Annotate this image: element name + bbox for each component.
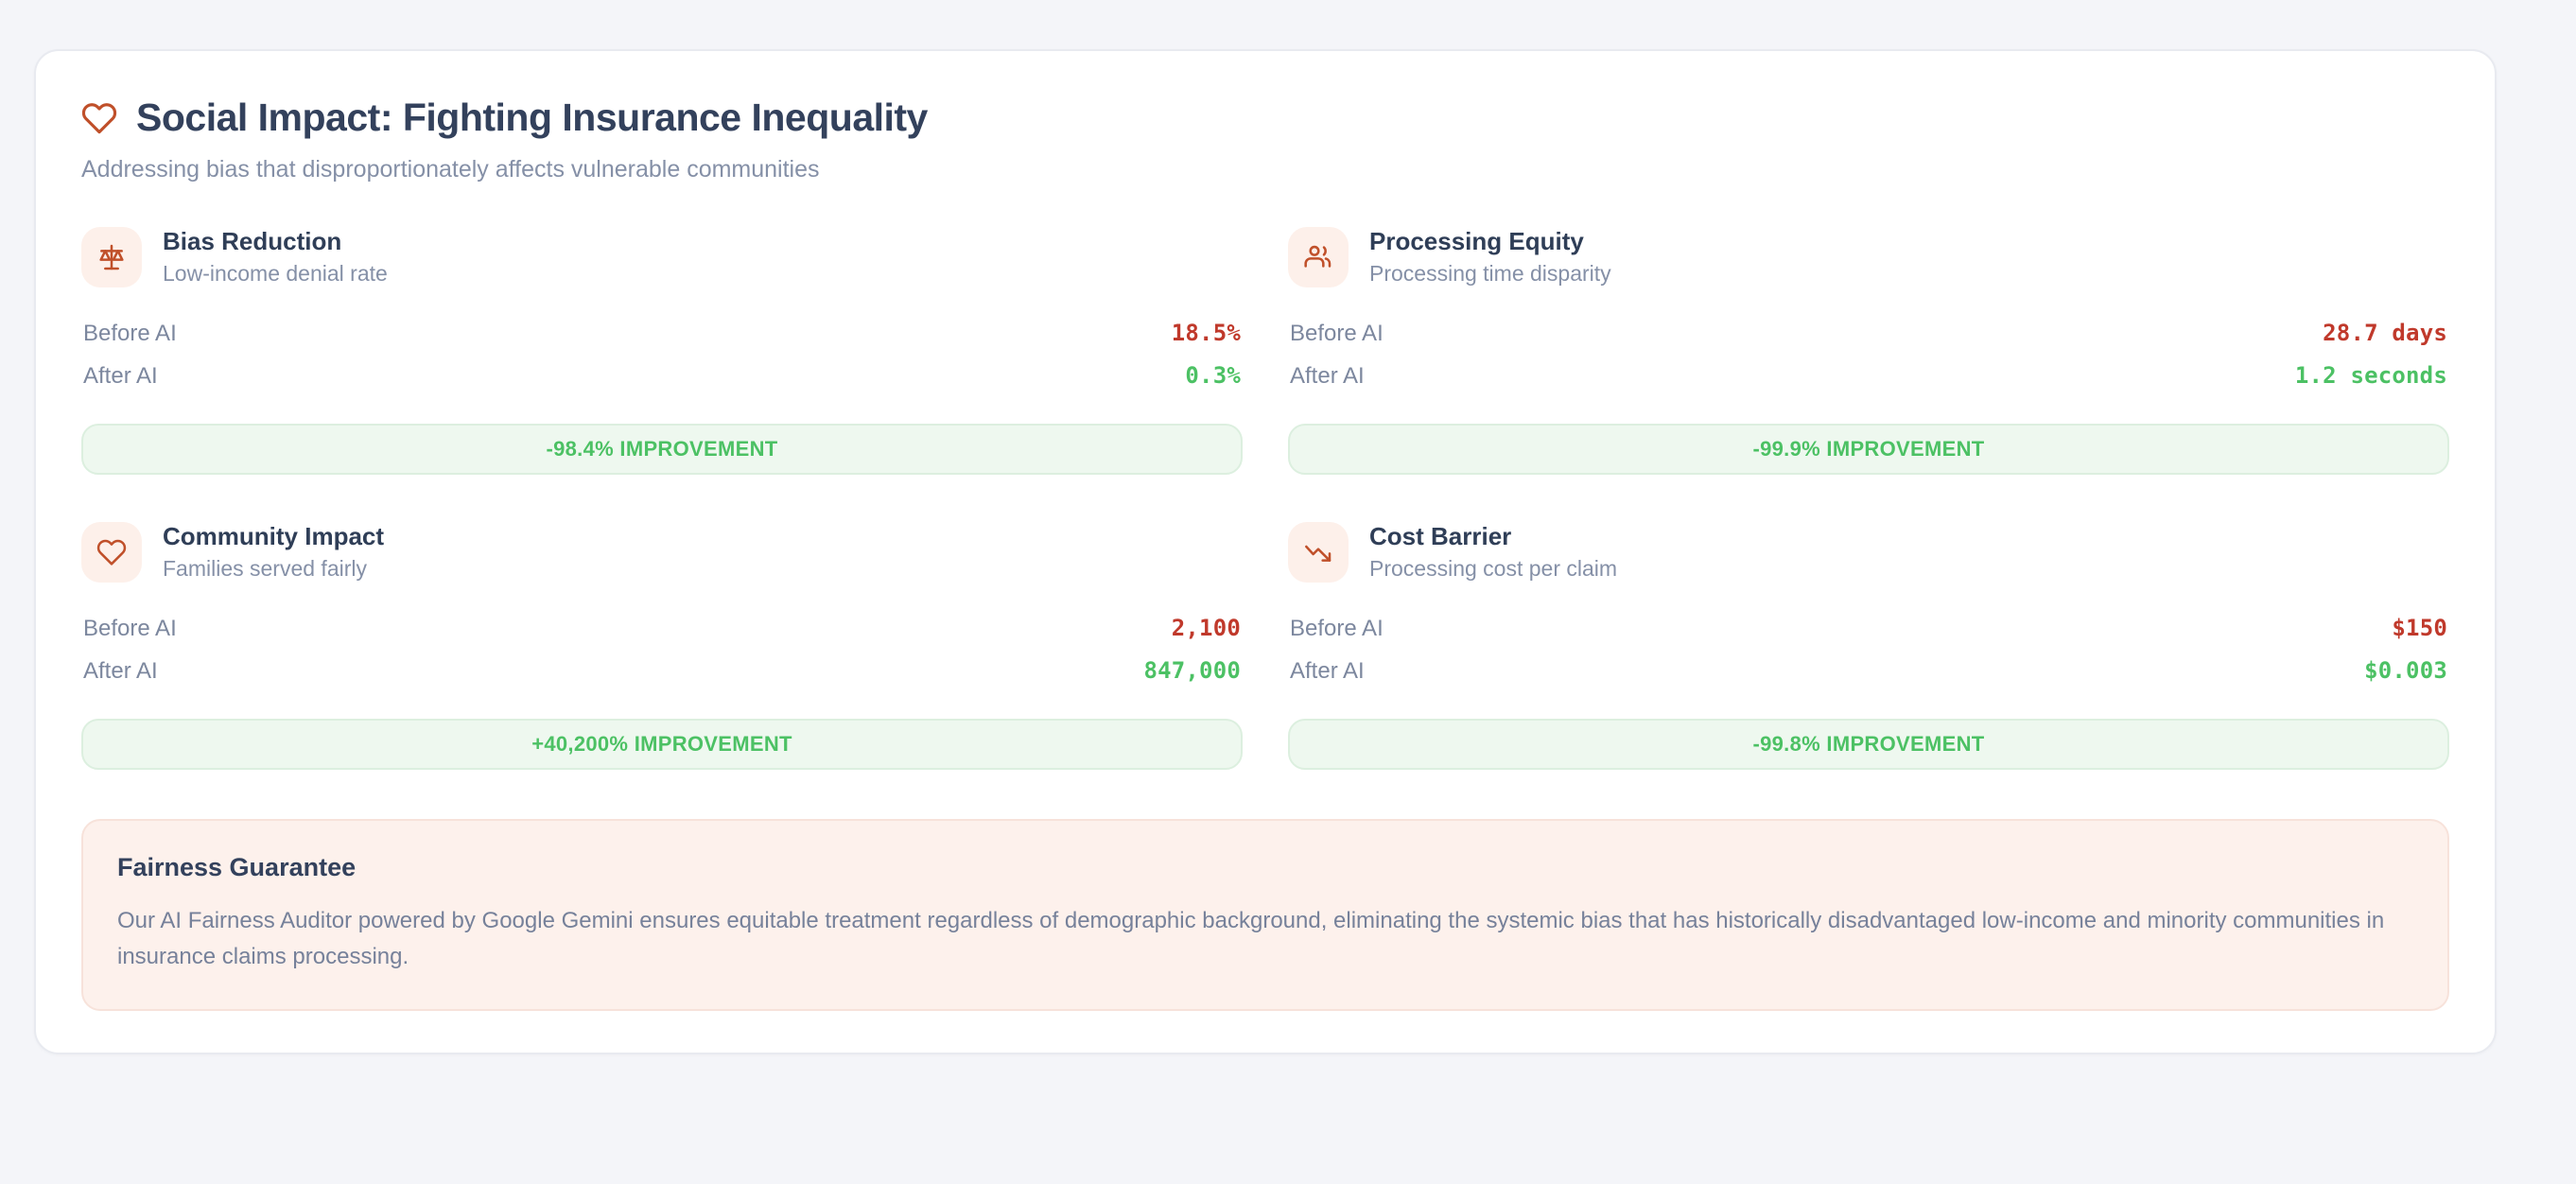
- scales-icon: [81, 227, 142, 287]
- trending-down-icon: [1288, 522, 1349, 583]
- metric-title: Cost Barrier: [1369, 523, 1617, 550]
- before-value: 18.5%: [1172, 320, 1241, 346]
- metric-row-before: Before AI 2,100: [81, 607, 1243, 650]
- metric-rows: Before AI $150 After AI $0.003: [1288, 607, 2449, 692]
- metric-card-bias-reduction: Bias Reduction Low-income denial rate Be…: [81, 227, 1243, 475]
- metric-rows: Before AI 18.5% After AI 0.3%: [81, 312, 1243, 397]
- after-label: After AI: [83, 363, 158, 390]
- before-label: Before AI: [1290, 321, 1384, 347]
- fairness-body: Our AI Fairness Auditor powered by Googl…: [117, 903, 2406, 976]
- metric-card-processing-equity: Processing Equity Processing time dispar…: [1288, 227, 2449, 475]
- improvement-badge: +40,200% IMPROVEMENT: [81, 719, 1243, 770]
- metric-row-after: After AI $0.003: [1288, 650, 2449, 692]
- metric-head: Processing Equity Processing time dispar…: [1288, 227, 2449, 287]
- after-value: 0.3%: [1185, 362, 1241, 389]
- before-value: $150: [2392, 615, 2447, 641]
- heart-icon: [81, 100, 117, 136]
- page-root: Social Impact: Fighting Insurance Inequa…: [0, 0, 2576, 1184]
- metric-title: Community Impact: [163, 523, 384, 550]
- after-label: After AI: [1290, 658, 1365, 685]
- metric-row-after: After AI 847,000: [81, 650, 1243, 692]
- panel-header: Social Impact: Fighting Insurance Inequa…: [81, 96, 2449, 185]
- improvement-badge: -99.8% IMPROVEMENT: [1288, 719, 2449, 770]
- after-value: $0.003: [2364, 657, 2447, 684]
- heart-icon: [81, 522, 142, 583]
- metric-row-before: Before AI $150: [1288, 607, 2449, 650]
- metric-subtitle: Families served fairly: [163, 556, 384, 581]
- improvement-badge: -99.9% IMPROVEMENT: [1288, 424, 2449, 475]
- metric-row-after: After AI 1.2 seconds: [1288, 355, 2449, 397]
- before-value: 28.7 days: [2323, 320, 2447, 346]
- metric-head: Cost Barrier Processing cost per claim: [1288, 522, 2449, 583]
- metric-row-before: Before AI 28.7 days: [1288, 312, 2449, 355]
- metric-card-community-impact: Community Impact Families served fairly …: [81, 522, 1243, 770]
- metric-subtitle: Processing time disparity: [1369, 261, 1611, 286]
- before-value: 2,100: [1172, 615, 1241, 641]
- before-label: Before AI: [83, 321, 177, 347]
- metric-card-cost-barrier: Cost Barrier Processing cost per claim B…: [1288, 522, 2449, 770]
- metric-rows: Before AI 28.7 days After AI 1.2 seconds: [1288, 312, 2449, 397]
- social-impact-panel: Social Impact: Fighting Insurance Inequa…: [34, 49, 2497, 1054]
- after-value: 1.2 seconds: [2295, 362, 2447, 389]
- users-icon: [1288, 227, 1349, 287]
- metric-row-after: After AI 0.3%: [81, 355, 1243, 397]
- after-label: After AI: [1290, 363, 1365, 390]
- after-value: 847,000: [1143, 657, 1241, 684]
- improvement-badge: -98.4% IMPROVEMENT: [81, 424, 1243, 475]
- after-label: After AI: [83, 658, 158, 685]
- metric-subtitle: Low-income denial rate: [163, 261, 388, 286]
- before-label: Before AI: [1290, 616, 1384, 642]
- fairness-title: Fairness Guarantee: [117, 853, 2413, 882]
- metric-head: Community Impact Families served fairly: [81, 522, 1243, 583]
- metric-row-before: Before AI 18.5%: [81, 312, 1243, 355]
- before-label: Before AI: [83, 616, 177, 642]
- metric-subtitle: Processing cost per claim: [1369, 556, 1617, 581]
- metric-rows: Before AI 2,100 After AI 847,000: [81, 607, 1243, 692]
- page-subtitle: Addressing bias that disproportionately …: [81, 154, 2449, 185]
- fairness-guarantee-box: Fairness Guarantee Our AI Fairness Audit…: [81, 819, 2449, 1012]
- metric-head: Bias Reduction Low-income denial rate: [81, 227, 1243, 287]
- metric-title: Bias Reduction: [163, 228, 388, 255]
- page-title: Social Impact: Fighting Insurance Inequa…: [136, 96, 928, 139]
- metric-title: Processing Equity: [1369, 228, 1611, 255]
- title-row: Social Impact: Fighting Insurance Inequa…: [81, 96, 2449, 139]
- metric-grid: Bias Reduction Low-income denial rate Be…: [81, 227, 2449, 770]
